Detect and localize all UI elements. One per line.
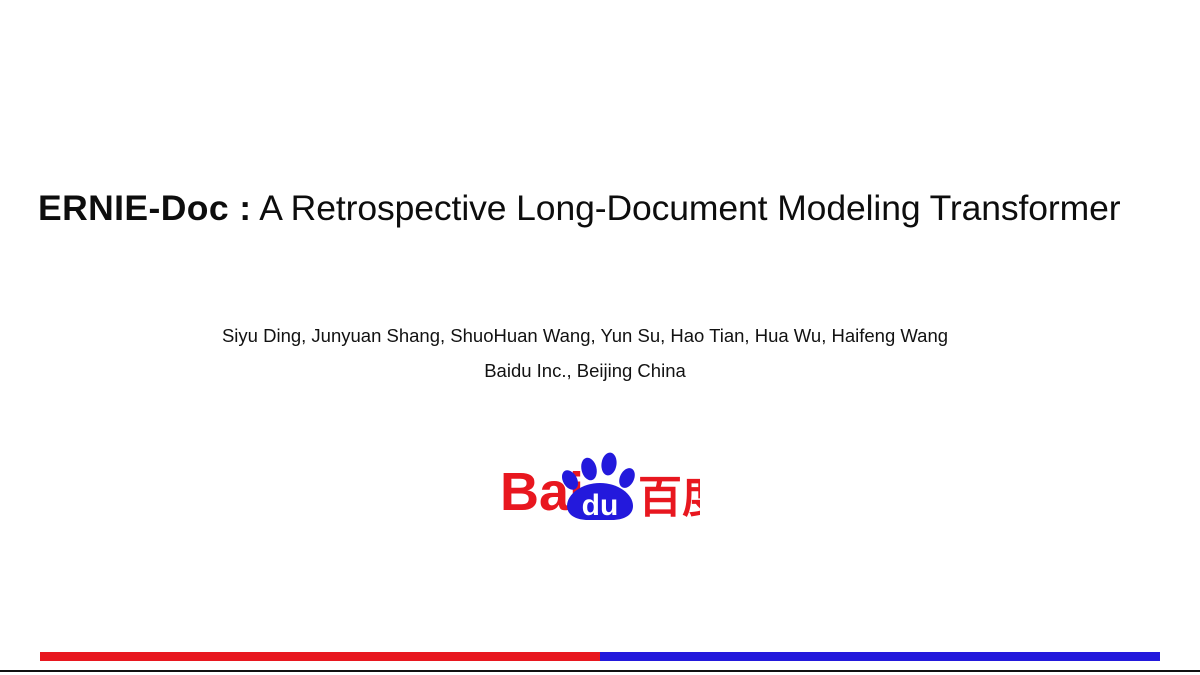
footer-bar-red xyxy=(40,652,600,661)
footer-rule xyxy=(0,670,1200,672)
paw-toe-icon xyxy=(616,465,638,490)
slide-title: ERNIE-Doc : A Retrospective Long-Documen… xyxy=(38,186,1168,230)
author-list: Siyu Ding, Junyuan Shang, ShuoHuan Wang,… xyxy=(0,323,1170,349)
title-emphasis: ERNIE-Doc : xyxy=(38,188,251,228)
baidu-chinese-text: 百度 xyxy=(638,472,700,523)
paw-toe-icon xyxy=(600,452,618,476)
title-line: ERNIE-Doc : A Retrospective Long-Documen… xyxy=(38,186,1168,230)
baidu-logo: Bai du 百度 xyxy=(500,452,700,524)
title-remainder: A Retrospective Long-Document Modeling T… xyxy=(251,188,1120,228)
footer-bar-blue xyxy=(600,652,1160,661)
presentation-slide: ERNIE-Doc : A Retrospective Long-Documen… xyxy=(0,0,1200,675)
baidu-logo-graphic: Bai du 百度 xyxy=(500,452,700,524)
paw-du-text: du xyxy=(582,489,619,522)
affiliation-line: Baidu Inc., Beijing China xyxy=(0,358,1170,384)
